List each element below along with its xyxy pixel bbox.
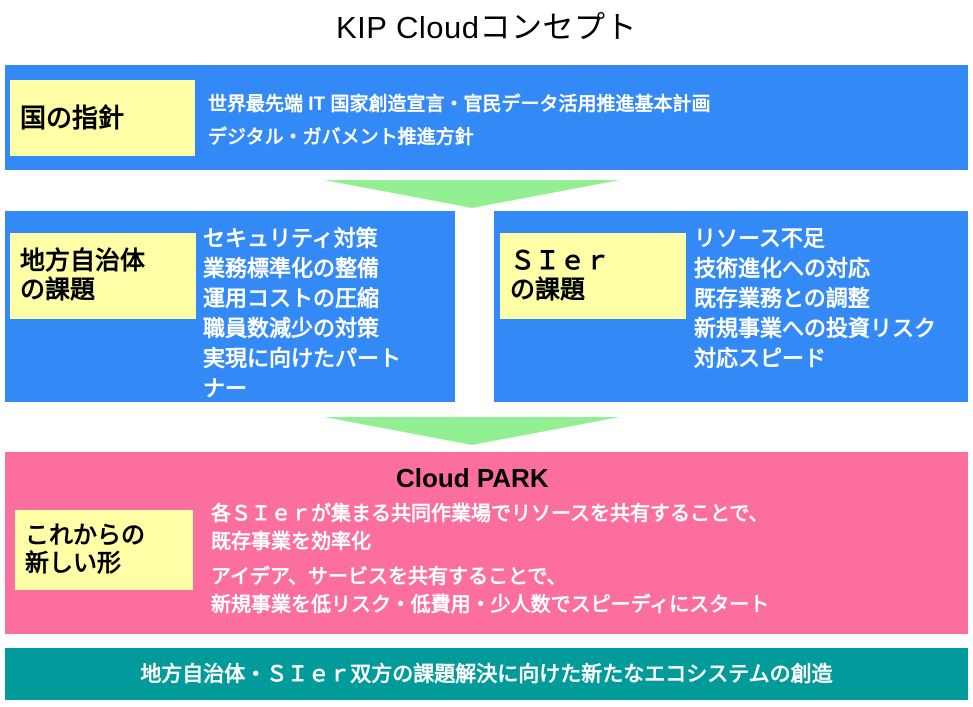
chip-line: ＳＩｅｒ [510,247,676,277]
chip-national-guideline: 国の指針 [10,80,195,156]
chip-sier: ＳＩｅｒ の課題 [500,233,686,319]
chip-line: 新しい形 [25,550,183,578]
text-line: 職員数減少の対策 [203,314,401,344]
text-line: 新規事業への投資リスク [694,314,936,344]
local-gov-challenges-text: セキュリティ対策 業務標準化の整備 運用コストの圧縮 職員数減少の対策 実現に向… [203,224,401,404]
slide-canvas: KIP Cloudコンセプト 国の指針 世界最先端 IT 国家創造宣言・官民デー… [0,0,973,707]
arrow-challenges-to-cloudpark [324,417,620,445]
text-line: 既存事業を効率化 [211,528,769,556]
text-line: 各ＳＩｅｒが集まる共同作業場でリソースを共有することで、 [211,500,769,528]
page-title: KIP Cloudコンセプト [0,8,973,48]
text-line: 業務標準化の整備 [203,254,401,284]
chip-line: 地方自治体 [20,247,186,277]
text-line: 技術進化への対応 [694,254,936,284]
text-line: 新規事業を低リスク・低費用・少人数でスピーディにスタート [211,591,769,619]
chip-local-gov: 地方自治体 の課題 [10,233,196,319]
text-line: 既存業務との調整 [694,284,936,314]
text-line: デジタル・ガバメント推進方針 [208,121,710,154]
text-line: リソース不足 [694,224,936,254]
chip-line: の課題 [20,276,186,306]
sier-challenges-text: リソース不足 技術進化への対応 既存業務との調整 新規事業への投資リスク 対応ス… [694,224,936,374]
text-line: 実現に向けたパート [203,344,401,374]
chip-line: の課題 [510,276,676,306]
text-line: 世界最先端 IT 国家創造宣言・官民データ活用推進基本計画 [208,88,710,121]
footer-bar-text: 地方自治体・ＳＩｅｒ双方の課題解決に向けた新たなエコシステムの創造 [0,662,973,688]
chip-line: 国の指針 [20,103,185,134]
text-line: 対応スピード [694,344,936,374]
text-line: セキュリティ対策 [203,224,401,254]
national-guideline-text: 世界最先端 IT 国家創造宣言・官民データ活用推進基本計画 デジタル・ガバメント… [208,88,710,154]
text-line: 運用コストの圧縮 [203,284,401,314]
arrow-national-to-challenges [324,180,620,208]
cloud-park-benefit-newbiz: アイデア、サービスを共有することで、 新規事業を低リスク・低費用・少人数でスピー… [211,563,769,619]
cloud-park-heading: Cloud PARK [396,462,549,494]
text-line: アイデア、サービスを共有することで、 [211,563,769,591]
chip-line: これからの [25,522,183,550]
text-line: ナー [203,374,401,404]
chip-new-form: これからの 新しい形 [15,510,193,590]
cloud-park-benefit-efficiency: 各ＳＩｅｒが集まる共同作業場でリソースを共有することで、 既存事業を効率化 [211,500,769,556]
